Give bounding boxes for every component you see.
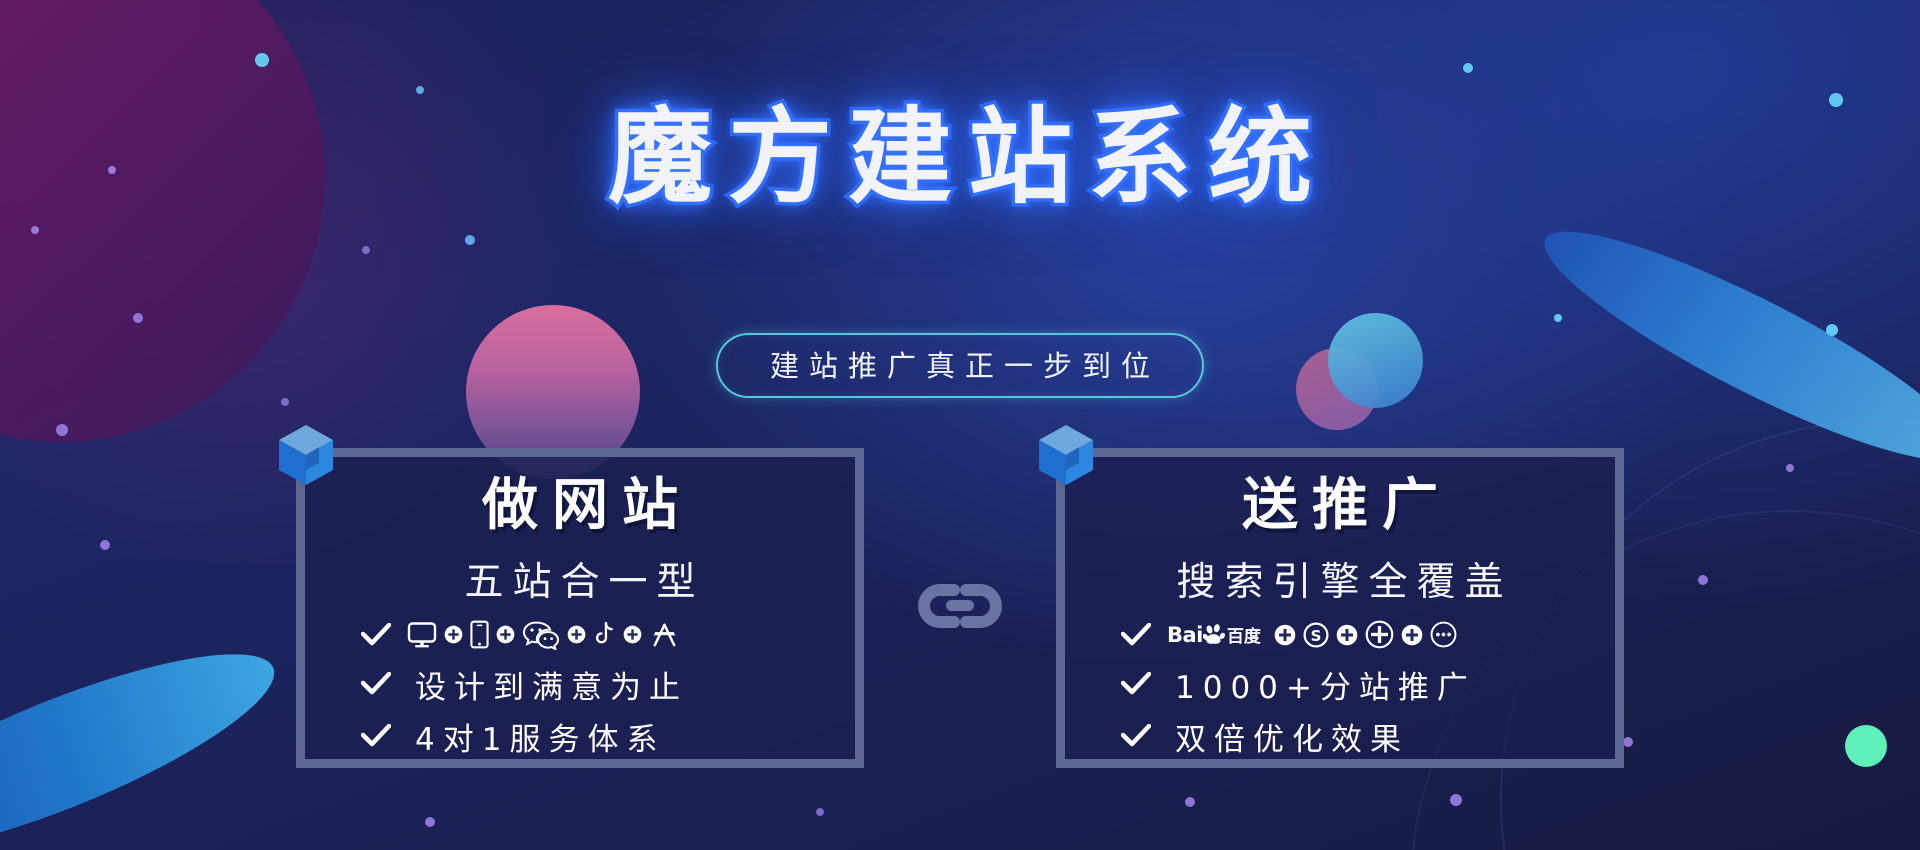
check-icon xyxy=(361,623,391,647)
check-icon xyxy=(1121,623,1151,647)
feature-list: 设计到满意为止 4对1服务体系 xyxy=(305,615,855,766)
360-search-icon xyxy=(1365,620,1394,649)
feature-row-search-engines: Bai 百度 xyxy=(1121,615,1559,655)
sparkle-dot xyxy=(425,817,435,827)
feature-label: 设计到满意为止 xyxy=(407,662,688,707)
promo-banner: 魔方建站系统 建站推广真正一步到位 做网站 五站合一型 xyxy=(0,0,1920,850)
plus-icon xyxy=(567,625,586,644)
card-build-website[interactable]: 做网站 五站合一型 xyxy=(296,448,864,768)
baidu-logo: Bai 百度 xyxy=(1167,622,1261,647)
feature-row: 双倍优化效果 xyxy=(1121,714,1559,759)
main-title-wrap: 魔方建站系统 xyxy=(0,96,1920,219)
wechat-icon xyxy=(522,620,560,650)
feature-label: 双倍优化效果 xyxy=(1167,714,1409,759)
monitor-icon xyxy=(407,621,437,649)
baidu-paw-icon xyxy=(1203,624,1227,646)
sparkle-dot xyxy=(1554,314,1562,322)
main-title: 魔方建站系统 xyxy=(574,96,1346,219)
feature-row: 4对1服务体系 xyxy=(361,714,799,759)
subtitle-pill: 建站推广真正一步到位 xyxy=(716,333,1204,398)
feature-list: Bai 百度 xyxy=(1065,615,1615,766)
sparkle-dot xyxy=(1185,797,1195,807)
sparkle-dot xyxy=(465,235,475,245)
card-subtitle: 五站合一型 xyxy=(455,551,704,607)
subtitle-pill-wrap: 建站推广真正一步到位 xyxy=(0,333,1920,398)
check-icon xyxy=(1121,724,1151,748)
feature-label: 1000+分站推广 xyxy=(1167,662,1476,707)
card-free-promotion[interactable]: 送推广 搜索引擎全覆盖 Bai xyxy=(1056,448,1624,768)
sparkle-dot xyxy=(56,424,68,436)
sparkle-dot xyxy=(133,313,143,323)
card-heading: 做网站 xyxy=(468,475,692,538)
sparkle-dot xyxy=(362,246,370,254)
app-store-icon xyxy=(649,621,680,648)
card-heading: 送推广 xyxy=(1228,475,1452,538)
cards-row: 做网站 五站合一型 xyxy=(0,448,1920,768)
check-icon xyxy=(361,724,391,748)
mobile-phone-icon xyxy=(470,620,489,649)
sparkle-dot xyxy=(31,226,39,234)
link-icon-gap xyxy=(894,448,1026,768)
plus-icon xyxy=(1274,624,1296,646)
sparkle-dot xyxy=(816,808,824,816)
sparkle-dot xyxy=(1463,63,1473,73)
platform-icon-strip xyxy=(407,620,680,650)
check-icon xyxy=(1121,672,1151,696)
card-subtitle: 搜索引擎全覆盖 xyxy=(1167,551,1512,607)
baidu-bai-text: Bai xyxy=(1167,623,1203,647)
cube-icon xyxy=(1035,423,1097,489)
douyin-music-icon xyxy=(593,620,616,649)
feature-label: 4对1服务体系 xyxy=(407,714,665,759)
chain-link-icon xyxy=(910,576,1010,641)
plus-icon xyxy=(1401,624,1423,646)
plus-icon xyxy=(496,625,515,644)
more-ellipsis-icon xyxy=(1430,621,1457,648)
sogou-icon: S xyxy=(1303,622,1329,648)
plus-icon xyxy=(623,625,642,644)
feature-row: 1000+分站推广 xyxy=(1121,662,1559,707)
baidu-cn-text: 百度 xyxy=(1227,622,1261,647)
feature-row-platform-icons xyxy=(361,615,799,655)
sparkle-dot xyxy=(281,398,289,406)
sparkle-dot xyxy=(1450,794,1462,806)
plus-icon xyxy=(444,625,463,644)
sparkle-dot xyxy=(416,86,424,94)
plus-icon xyxy=(1336,624,1358,646)
svg-text:S: S xyxy=(1310,627,1321,645)
feature-row: 设计到满意为止 xyxy=(361,662,799,707)
search-engine-icon-strip: Bai 百度 xyxy=(1167,620,1457,649)
cube-icon xyxy=(275,423,337,489)
sparkle-dot xyxy=(255,53,269,67)
check-icon xyxy=(361,672,391,696)
